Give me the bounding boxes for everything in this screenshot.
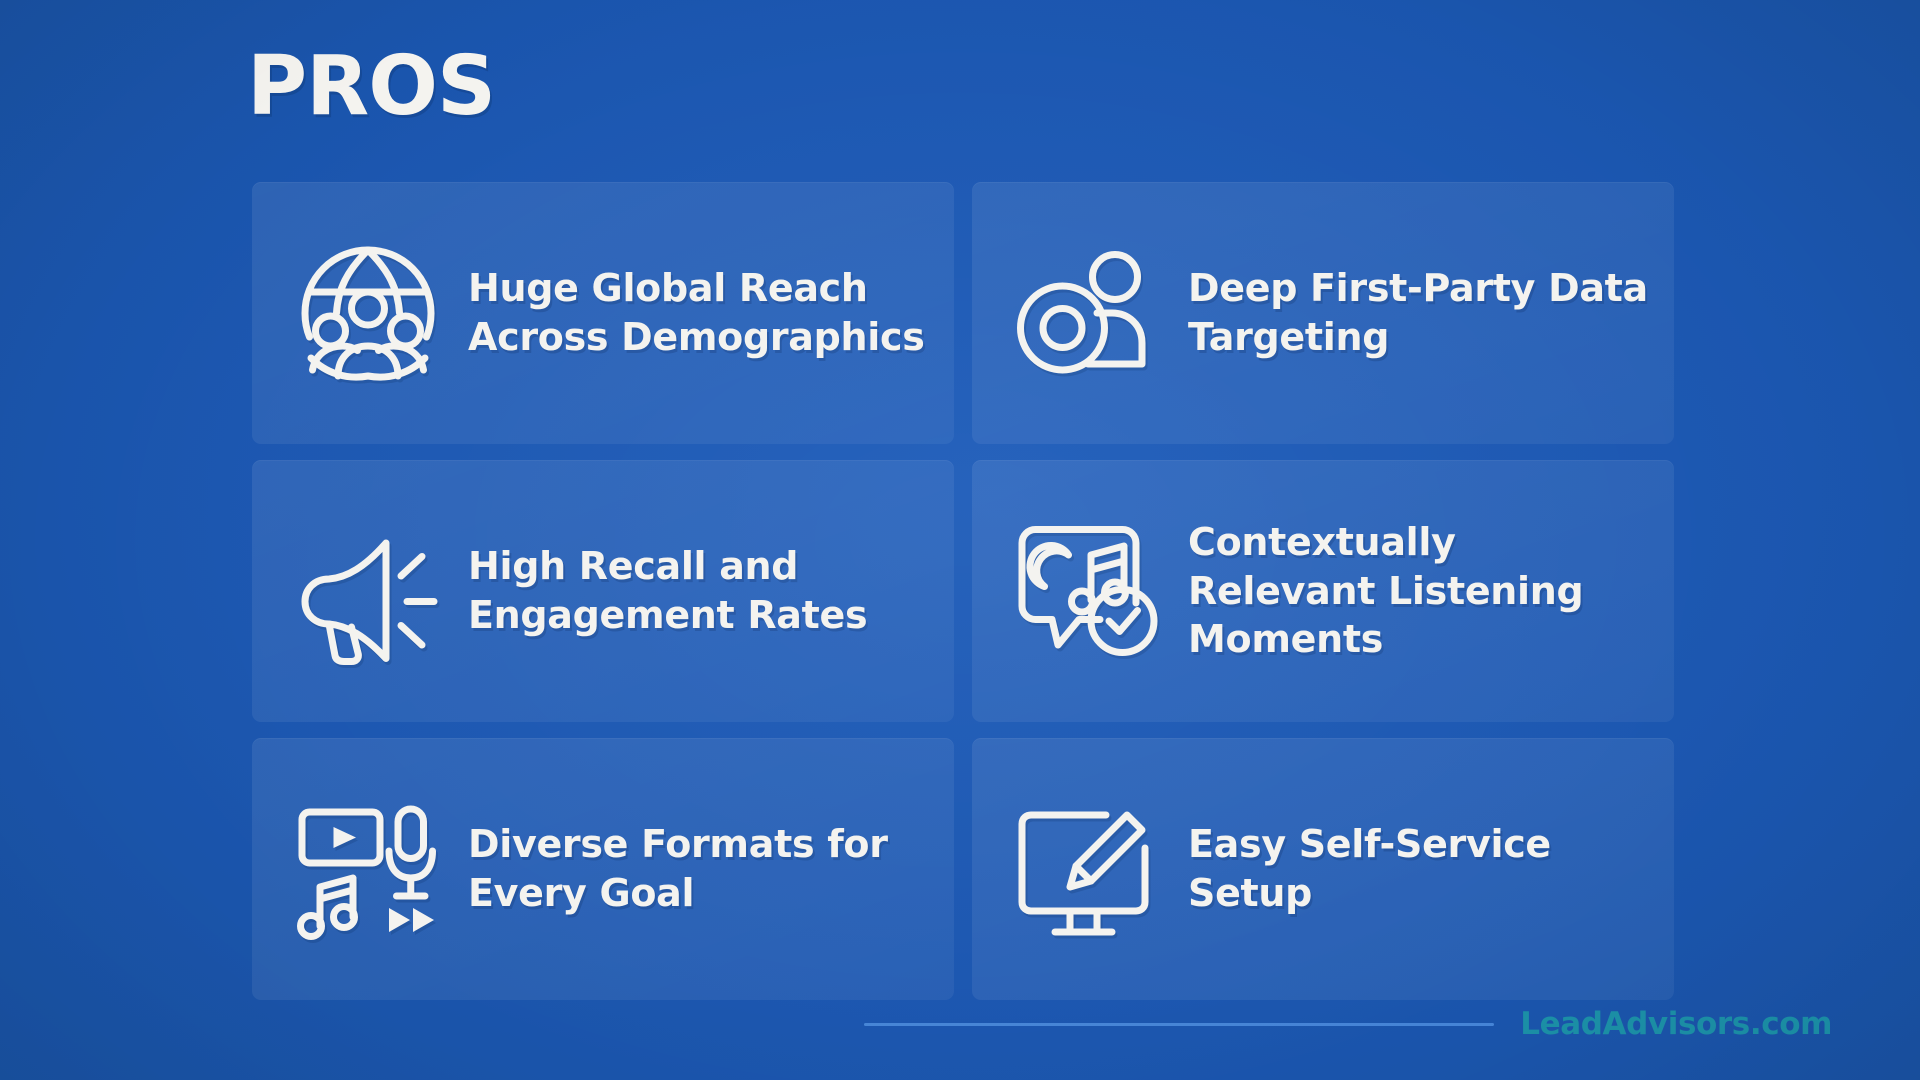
pros-card-label: Huge Global Reach Across Demographics xyxy=(468,264,928,361)
footer-divider xyxy=(864,1023,1494,1026)
pros-card[interactable]: Huge Global Reach Across Demographics xyxy=(252,182,954,444)
infographic-poster: PROS Huge Globa xyxy=(0,0,1920,1080)
footer: LeadAdvisors.com xyxy=(0,994,1920,1054)
pros-card-label: Diverse Formats for Every Goal xyxy=(468,820,928,917)
pros-card[interactable]: Easy Self-Service Setup xyxy=(972,738,1674,1000)
pros-card[interactable]: Diverse Formats for Every Goal xyxy=(252,738,954,1000)
pros-card-label: Contextually Relevant Listening Moments xyxy=(1188,518,1648,664)
brand-watermark: LeadAdvisors.com xyxy=(1520,1006,1832,1042)
pros-card[interactable]: Deep First-Party Data Targeting xyxy=(972,182,1674,444)
pros-card[interactable]: High Recall and Engagement Rates xyxy=(252,460,954,722)
page-title: PROS xyxy=(247,46,495,128)
pros-card-label: Deep First-Party Data Targeting xyxy=(1188,264,1648,361)
video-microphone-music-icon xyxy=(286,787,450,951)
pros-card-label: High Recall and Engagement Rates xyxy=(468,542,928,639)
monitor-pencil-icon xyxy=(1006,787,1170,951)
speech-bubble-music-moon-check-icon xyxy=(1006,509,1170,673)
person-target-icon xyxy=(1006,231,1170,395)
megaphone-icon xyxy=(286,509,450,673)
pros-card-grid: Huge Global Reach Across Demographics De… xyxy=(252,182,1674,1000)
pros-card-label: Easy Self-Service Setup xyxy=(1188,820,1648,917)
globe-people-icon xyxy=(286,231,450,395)
pros-card[interactable]: Contextually Relevant Listening Moments xyxy=(972,460,1674,722)
